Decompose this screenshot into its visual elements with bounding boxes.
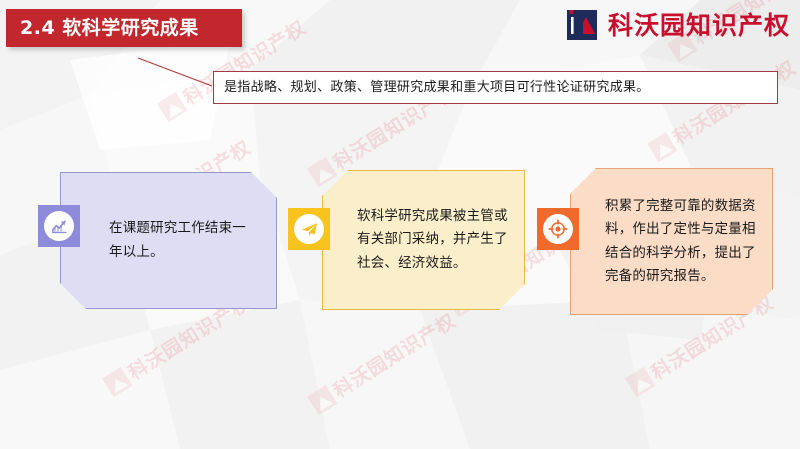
- page-title: 2.4 软科学研究成果: [6, 19, 199, 38]
- chart-trend-up-icon: [44, 211, 74, 241]
- target-crosshair-icon: [543, 214, 573, 244]
- definition-callout-box: 是指战略、规划、政策、管理研究成果和重大项目可行性论证研究成果。: [213, 71, 778, 104]
- criteria-card-adoption[interactable]: 软科学研究成果被主管或有关部门采纳，并产生了社会、经济效益。: [322, 170, 525, 310]
- card-surface: 软科学研究成果被主管或有关部门采纳，并产生了社会、经济效益。: [322, 170, 525, 310]
- brand-name: 科沃园知识产权: [608, 13, 790, 38]
- card-text: 积累了完整可靠的数据资料，作出了定性与定量相结合的科学分析，提出了完备的研究报告…: [571, 195, 772, 288]
- card-text: 软科学研究成果被主管或有关部门采纳，并产生了社会、经济效益。: [323, 205, 524, 275]
- criteria-card-data[interactable]: 积累了完整可靠的数据资料，作出了定性与定量相结合的科学分析，提出了完备的研究报告…: [570, 168, 773, 315]
- paper-plane-icon: [294, 214, 324, 244]
- card-adoption-badge: [288, 208, 330, 250]
- card-data-badge: [537, 208, 579, 250]
- card-surface: 在课题研究工作结束一年以上。: [60, 172, 277, 309]
- definition-text: 是指战略、规划、政策、管理研究成果和重大项目可行性论证研究成果。: [214, 80, 650, 96]
- slide-title-banner: 2.4 软科学研究成果: [6, 9, 242, 47]
- card-text: 在课题研究工作结束一年以上。: [61, 217, 276, 263]
- diagonal-connector-line: [120, 50, 220, 92]
- criteria-card-duration[interactable]: 在课题研究工作结束一年以上。: [60, 172, 277, 309]
- brand-logo-group: 科沃园知识产权: [565, 8, 790, 42]
- card-surface: 积累了完整可靠的数据资料，作出了定性与定量相结合的科学分析，提出了完备的研究报告…: [570, 168, 773, 315]
- slide-canvas: 科沃园知识产权 科沃园知识产权 科沃园知识产权 科沃园知识产权 科沃园知识产权 …: [0, 0, 800, 449]
- card-duration-badge: [38, 205, 80, 247]
- kewoyuan-logo-icon: [565, 8, 599, 42]
